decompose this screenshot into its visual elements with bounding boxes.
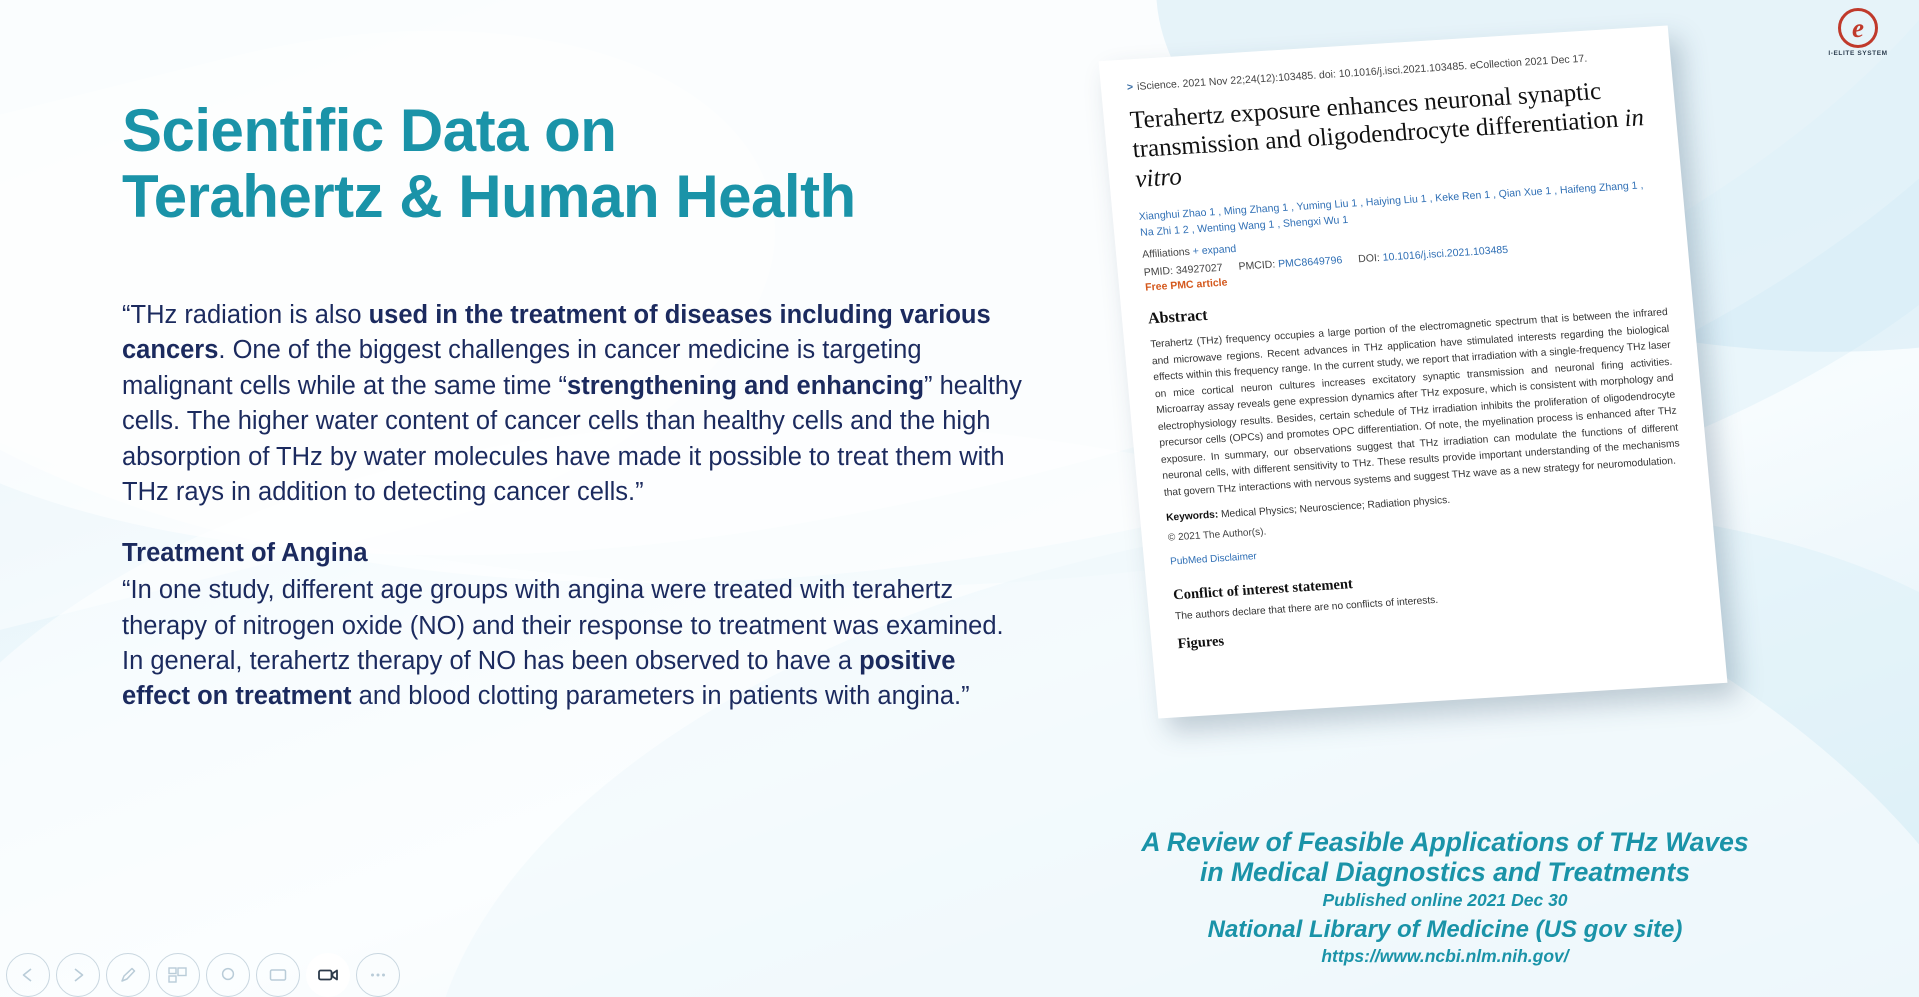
article-pmid: PMID: 34927027 (1143, 262, 1223, 279)
brand-logo: e I-ELITE SYSTEM (1819, 6, 1897, 70)
pubmed-article-screenshot: >iScience. 2021 Nov 22;24(12):103485. do… (1099, 25, 1728, 718)
abstract-text: Terahertz (THz) frequency occupies a lar… (1150, 305, 1682, 502)
laser-pointer-button[interactable] (206, 953, 250, 997)
keywords-label: Keywords: (1166, 510, 1219, 524)
caption-url: https://www.ncbi.nlm.nih.gov/ (1050, 946, 1840, 967)
previous-slide-button[interactable] (6, 953, 50, 997)
article-doi-label: DOI: (1358, 252, 1381, 265)
screen-icon (267, 965, 289, 985)
paragraph-angina: “In one study, different age groups with… (122, 573, 1027, 715)
circle-icon (218, 965, 238, 985)
grid-icon (167, 965, 189, 985)
logo-mark-icon: e (1838, 8, 1878, 48)
pubmed-article-card: >iScience. 2021 Nov 22;24(12):103485. do… (1099, 25, 1728, 718)
presenter-toolbar[interactable] (6, 953, 400, 997)
section-subheading: Treatment of Angina (122, 536, 1027, 571)
video-camera-icon (316, 965, 340, 985)
expand-affiliations-button[interactable]: + expand (1192, 243, 1237, 258)
paragraph-cancer: “THz radiation is also used in the treat… (122, 298, 1027, 511)
caption-line-2: in Medical Diagnostics and Treatments (1050, 858, 1840, 888)
pen-icon (118, 965, 138, 985)
camera-toggle-button[interactable] (306, 953, 350, 997)
presentation-slide: e I-ELITE SYSTEM Scientific Data on Tera… (0, 0, 1919, 997)
body-copy: “THz radiation is also used in the treat… (122, 298, 1027, 715)
ellipsis-icon (367, 965, 389, 985)
logo-wordmark: I-ELITE SYSTEM (1819, 50, 1897, 57)
triangle-right-icon (69, 966, 87, 984)
pen-tool-button[interactable] (106, 953, 150, 997)
caption-published-date: Published online 2021 Dec 30 (1050, 890, 1840, 911)
next-slide-button[interactable] (56, 953, 100, 997)
article-pmcid-link[interactable]: PMC8649796 (1278, 255, 1343, 271)
source-caption: A Review of Feasible Applications of THz… (1050, 828, 1840, 967)
para1-segment-1: “THz radiation is also (122, 301, 369, 329)
triangle-left-icon (19, 966, 37, 984)
article-title: Terahertz exposure enhances neuronal syn… (1129, 74, 1654, 194)
page-title-line-1: Scientific Data on (122, 97, 616, 164)
blank-screen-button[interactable] (256, 953, 300, 997)
more-options-button[interactable] (356, 953, 400, 997)
para1-bold-2: strengthening and enhancing (567, 372, 924, 400)
paragraph-spacer (122, 511, 1027, 536)
caption-organization: National Library of Medicine (US gov sit… (1050, 916, 1840, 944)
page-title: Scientific Data on Terahertz & Human Hea… (122, 98, 1142, 230)
para2-segment-2: and blood clotting parameters in patient… (352, 682, 970, 710)
slide-grid-button[interactable] (156, 953, 200, 997)
affiliations-label: Affiliations (1142, 246, 1191, 261)
page-title-line-2: Terahertz & Human Health (122, 164, 1142, 230)
caption-line-1: A Review of Feasible Applications of THz… (1050, 828, 1840, 858)
chevron-right-icon: > (1126, 81, 1133, 93)
article-title-main: Terahertz exposure enhances neuronal syn… (1129, 78, 1626, 164)
article-pmcid-label: PMCID: (1238, 259, 1276, 273)
